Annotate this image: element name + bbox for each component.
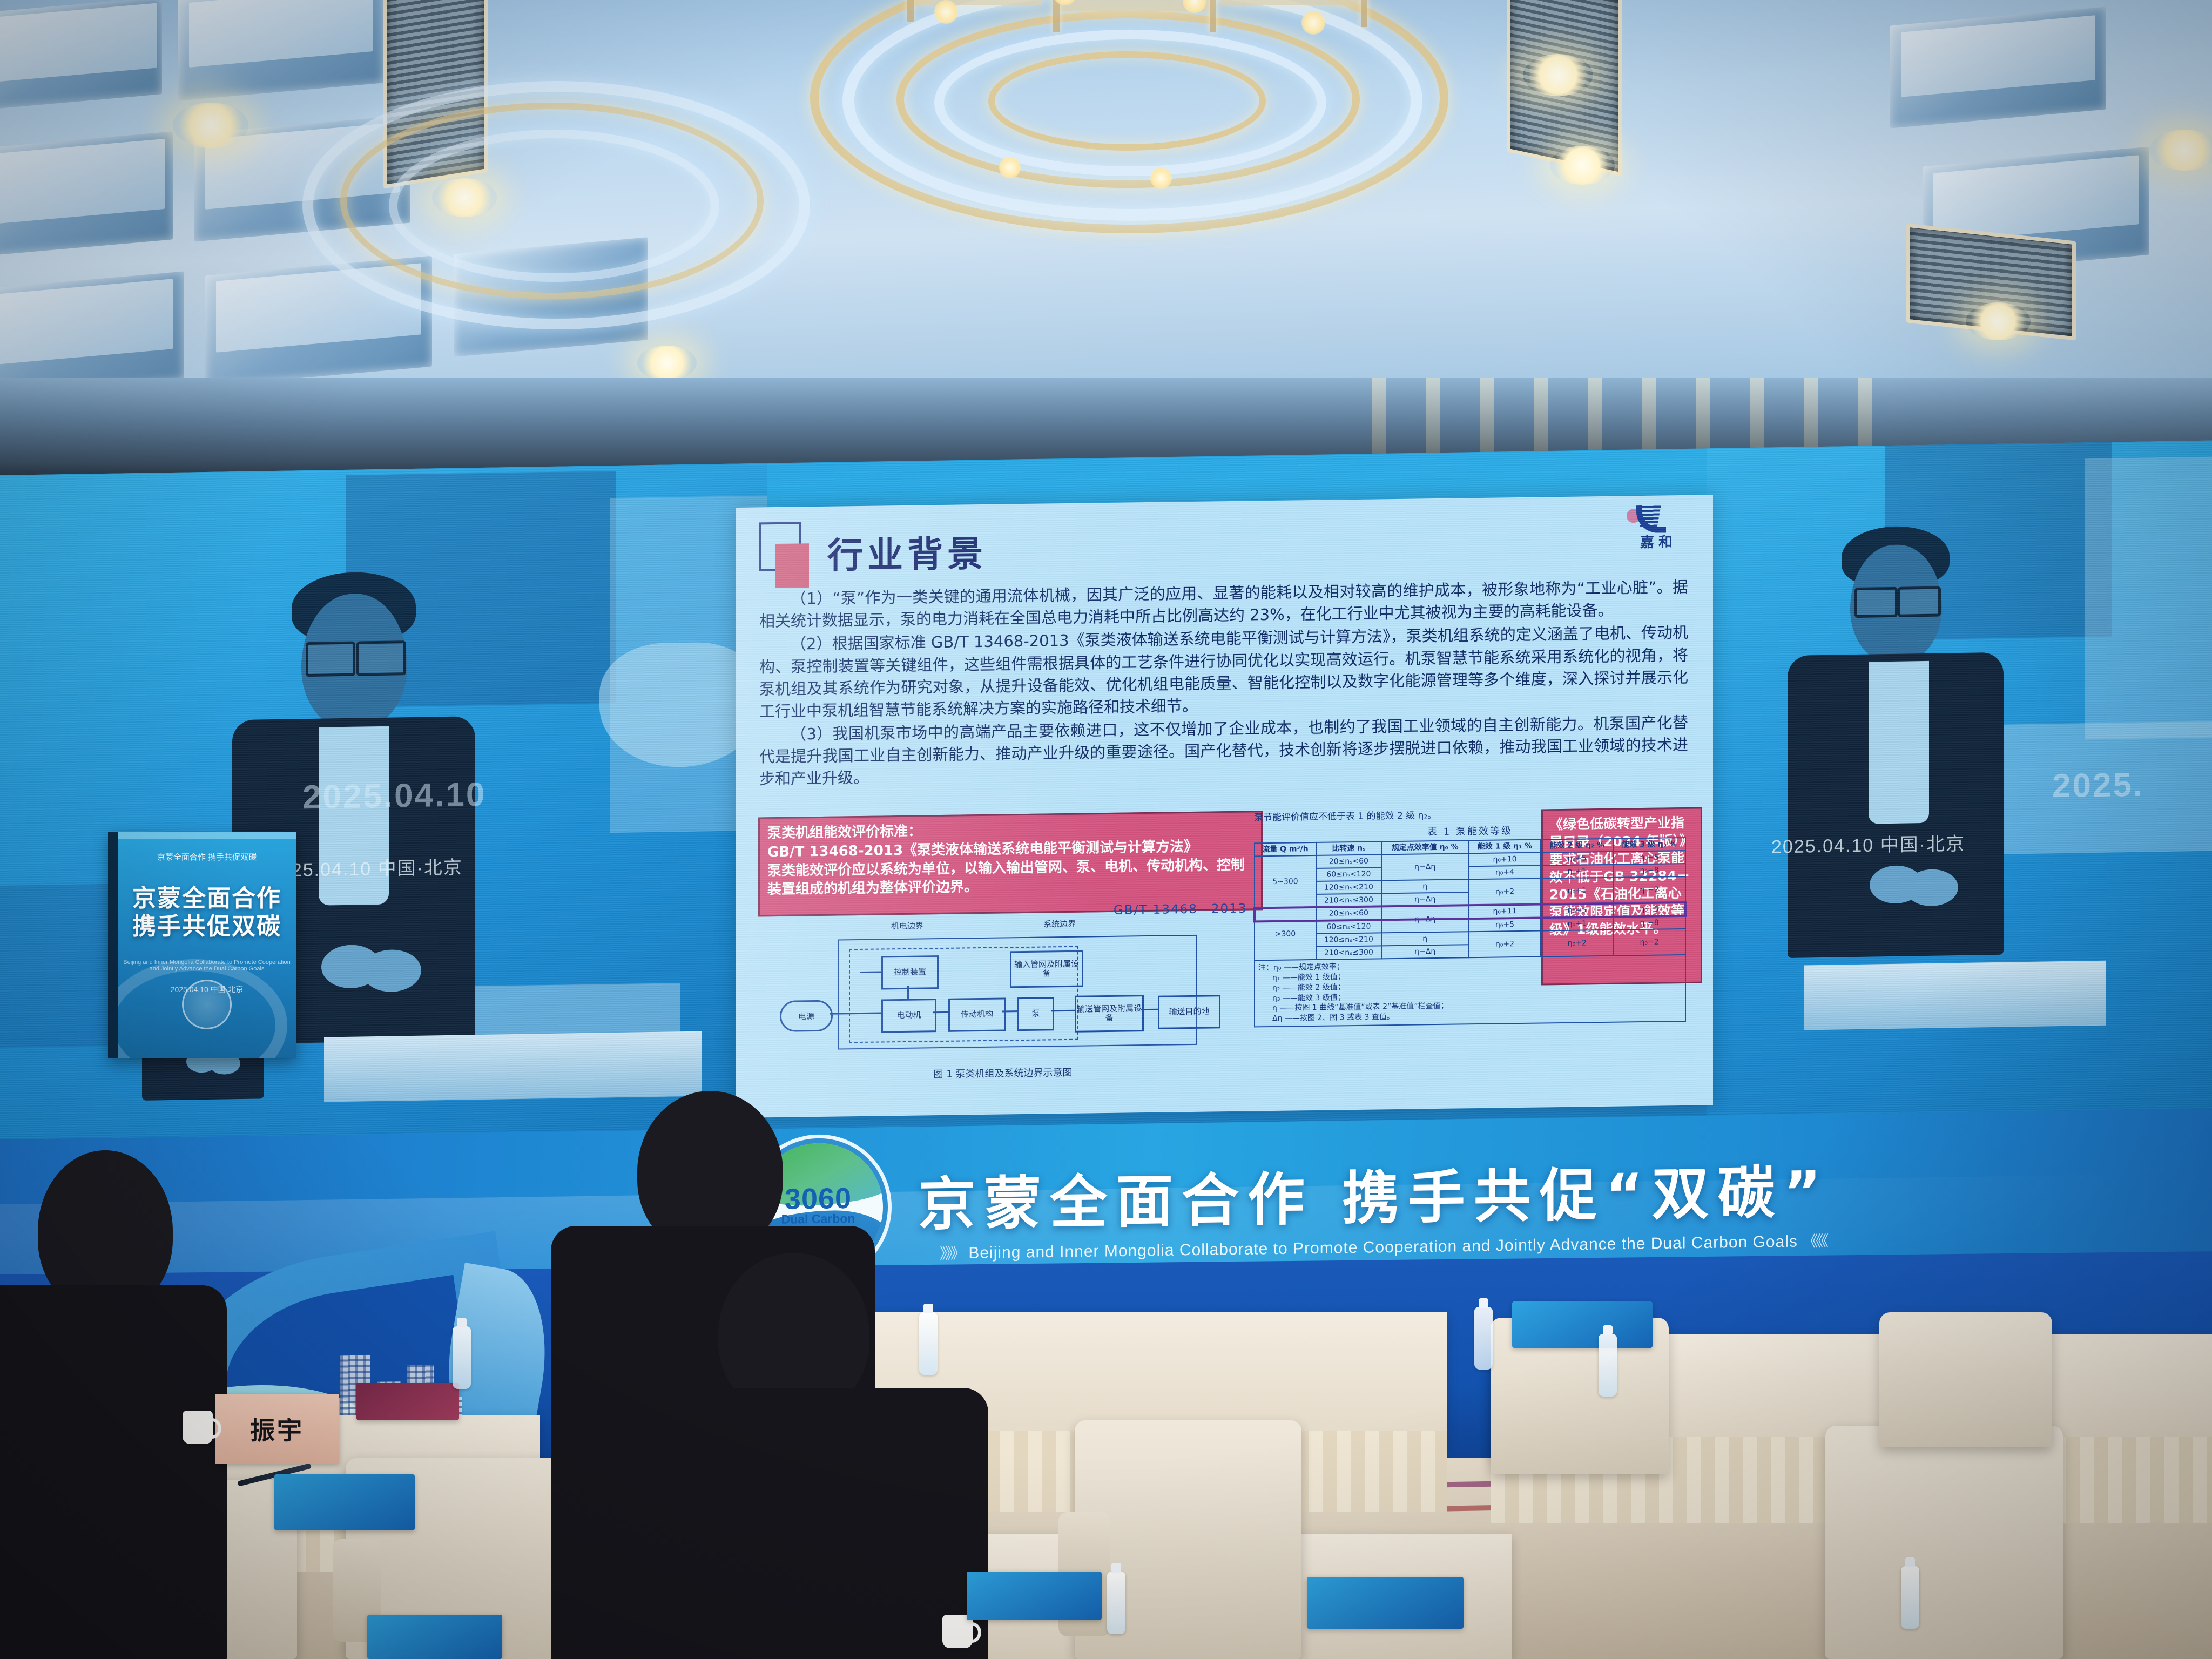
diagram-caption: 图 1 泵类机组及系统边界示意图 (773, 1063, 1232, 1083)
name-placard: 振宇 (215, 1394, 339, 1464)
cell-grade-2: η₀+1 (1541, 916, 1613, 930)
cell-specific-speed: 210<nₛ≤300 (1316, 894, 1381, 908)
recessed-downlight (637, 346, 697, 380)
recessed-downlight (1966, 302, 2031, 340)
diagram-node-pump: 泵 (1017, 997, 1054, 1031)
cell-specific-speed: 60≤nₛ<120 (1316, 920, 1381, 934)
table-header-grade-3: 能效 3 级 η₃ % (1613, 838, 1685, 852)
cell-grade-3: η₀−5 (1613, 851, 1685, 865)
water-bottle (1474, 1307, 1493, 1370)
table-header-rated-efficiency: 规定点效率值 η₀ % (1381, 840, 1469, 854)
audience-member (0, 1150, 221, 1658)
table-header-specific-speed: 比转速 nₛ (1316, 841, 1381, 855)
led-left-datestamp: 2025.04.10 中国·北京 (269, 853, 463, 882)
cell-grade-2: η₀+5 (1541, 852, 1613, 866)
document-folder (1512, 1301, 1653, 1348)
water-bottle (919, 1312, 938, 1375)
document-folder (367, 1615, 502, 1659)
jiahe-logo-mark (1618, 503, 1699, 532)
ceiling (0, 0, 2212, 410)
slide-title: 行业背景 (827, 525, 987, 579)
recessed-downlight (1550, 146, 1615, 185)
cell-grade-2: η₀+1 (1541, 865, 1613, 879)
lectern-top-logo: 京蒙全面合作 携手共促双碳 (157, 851, 257, 862)
conference-hall-photo: 2025.04.10 中国·北京 2025.04.10 2025.04.10 中… (0, 0, 2212, 1659)
slide-paragraph-2: （2）根据国家标准 GB/T 13468-2013《泵类液体输送系统电能平衡测试… (759, 622, 1688, 723)
slide-body-text: （1）“泵”作为一类关键的通用流体机械，因其广泛的应用、显著的能耗以及相对较高的… (759, 576, 1688, 792)
company-logo-text: 嘉和 (1640, 534, 1677, 550)
water-bottle (453, 1326, 471, 1389)
lectern-swoosh (108, 959, 287, 1058)
cell-rated-efficiency: η−Δη (1381, 893, 1469, 907)
led-right-datestamp: 2025.04.10 中国·北京 (1771, 829, 1965, 859)
cell-specific-speed: 120≤nₛ<210 (1316, 881, 1381, 895)
speaker-video-right (1788, 524, 2041, 976)
coffee-mug (183, 1411, 213, 1444)
cell-rated-efficiency: η−Δη (1381, 906, 1469, 933)
cell-grade-1: η₀+2 (1469, 930, 1541, 957)
lectern-main-text: 京蒙全面合作 携手共促双碳 (118, 885, 296, 941)
document-folder (1307, 1577, 1464, 1629)
cell-specific-speed: 120≤nₛ<210 (1316, 933, 1381, 947)
pump-system-boundary-diagram: 电源 控制装置 电动机 传动机构 泵 输入管网及附属设备 输送管网及附属设备 输… (773, 913, 1232, 1081)
pink-callout-left: 泵类机组能效评价标准： GB/T 13468-2013《泵类液体输送系统电能平衡… (758, 811, 1263, 916)
cell-grade-3: η₀−8 (1613, 916, 1685, 930)
diagram-node-outlet-network: 输送管网及附属设备 (1075, 995, 1144, 1033)
placard-name: 振宇 (250, 1411, 304, 1447)
company-logo: 嘉和 (1618, 503, 1699, 552)
guest-chair (1879, 1312, 2052, 1447)
table-pre-note: 泵节能评价值应不低于表 1 的能效 2 级 η₂。 (1254, 804, 1686, 823)
cell-rated-efficiency: η−Δη (1381, 853, 1469, 880)
chevron-left-icon: 《《《 (1803, 1233, 1826, 1250)
water-bottle (1107, 1572, 1125, 1634)
water-bottle (1599, 1334, 1617, 1397)
guest-chair (1825, 1426, 2063, 1659)
cell-specific-speed: 20≤nₛ<60 (1316, 907, 1381, 921)
slide-paragraph-3: （3）我国机泵市场中的高端产品主要依赖进口，这不仅增加了企业成本，也制约了我国工… (759, 712, 1688, 791)
cell-specific-speed: 60≤nₛ<120 (1316, 868, 1381, 882)
document-folder (356, 1382, 459, 1420)
pump-efficiency-grade-table: 泵节能评价值应不低于表 1 的能效 2 级 η₂。 表 1 泵能效等级 流量 Q… (1254, 804, 1686, 1028)
diagram-label-system-boundary: 系统边界 (1043, 918, 1076, 930)
led-right-bigdate: 2025. (2052, 766, 2144, 806)
cell-grade-3: η₀−8 (1613, 864, 1685, 878)
cell-grade-1: η₀+10 (1469, 853, 1541, 867)
document-folder (274, 1474, 415, 1530)
cell-grade-1: η₀+11 (1469, 905, 1541, 919)
ring-chandelier (772, 0, 1474, 275)
table-header-flow: 流量 Q m³/h (1255, 842, 1316, 857)
cell-flow: >300 (1255, 907, 1316, 960)
cell-grade-3: η₀−2 (1613, 929, 1685, 956)
diagram-node-transmission: 传动机构 (948, 997, 1006, 1031)
diagram-node-control: 控制装置 (881, 955, 939, 989)
water-bottle (1901, 1566, 1919, 1629)
slide-title-square-filled (775, 543, 809, 588)
cell-specific-speed: 20≤nₛ<60 (1316, 854, 1381, 868)
cell-grade-3: η₀−5 (1613, 902, 1685, 916)
table-header-grade-1: 能效 1 级 η₁ % (1469, 839, 1541, 853)
cell-grade-1: η₀+2 (1469, 879, 1541, 906)
document-folder (967, 1572, 1102, 1620)
banner-title: 京蒙全面合作 携手共促“双碳” (918, 1145, 1830, 1242)
table-header-grade-2: 能效 2 级 η₂ % (1541, 839, 1613, 853)
cell-grade-1: η₀+5 (1469, 918, 1541, 932)
table-notes: 注：η₀ ——规定点效率； η₁ ——能效 1 级值； η₂ ——能效 2 级值… (1254, 955, 1686, 1028)
diagram-node-motor: 电动机 (881, 999, 936, 1033)
led-left-bigdate: 2025.04.10 (302, 775, 486, 817)
cell-rated-efficiency: η−Δη (1381, 945, 1469, 959)
cell-grade-3: η₀−2 (1613, 876, 1685, 903)
pink-left-line3: 泵类能效评价应以系统为单位，以输入输出管网、泵、电机、传动机构、控制装置组成的机… (767, 855, 1253, 899)
efficiency-table: 流量 Q m³/h 比转速 nₛ 规定点效率值 η₀ % 能效 1 级 η₁ %… (1254, 837, 1686, 961)
lectern-line-1: 京蒙全面合作 (132, 885, 281, 912)
lectern: 京蒙全面合作 携手共促双碳 京蒙全面合作 携手共促双碳 Beijing and … (108, 832, 296, 1058)
diagram-node-power: 电源 (780, 1000, 833, 1032)
recessed-downlight (2149, 130, 2212, 171)
presentation-slide: 行业背景 嘉和 （1）“泵”作为一类关键的通用流体机械，因其广泛的应用、显著的能… (736, 495, 1713, 1118)
cell-rated-efficiency: η (1381, 880, 1469, 894)
diagram-node-destination: 输送目的地 (1158, 995, 1220, 1029)
diagram-node-inlet-network: 输入管网及附属设备 (1010, 950, 1083, 988)
cell-grade-2: η₀+5 (1541, 903, 1613, 918)
cell-flow: 5~300 (1255, 855, 1316, 908)
cell-specific-speed: 210<nₛ≤300 (1316, 946, 1381, 960)
ring-chandelier-secondary (302, 81, 788, 324)
cell-rated-efficiency: η (1381, 932, 1469, 946)
recessed-downlight (173, 103, 248, 148)
cell-grade-2: η₀+2 (1541, 929, 1613, 956)
recessed-downlight (1523, 54, 1593, 96)
led-screen-right: 2025.04.10 中国·北京 2025. (1707, 441, 2212, 1135)
diagram-label-electromechanical-boundary: 机电边界 (891, 920, 923, 932)
cell-grade-1: η₀+4 (1469, 866, 1541, 880)
cell-grade-2: η₀+1 (1541, 878, 1613, 905)
lectern-line-2: 携手共促双碳 (132, 913, 281, 940)
